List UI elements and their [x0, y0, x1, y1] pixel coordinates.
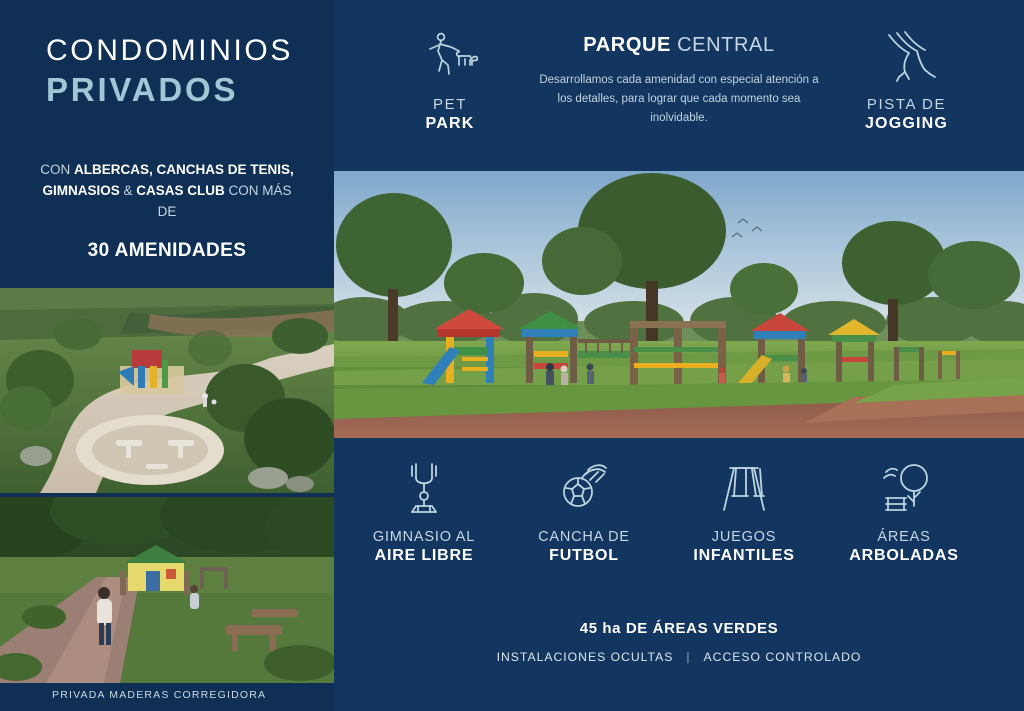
pet-park-label-bold: PARK [360, 115, 540, 133]
green-areas-stat: 45 ha DE ÁREAS VERDES [334, 620, 1024, 637]
top-icon-row: PET PARK PARQUE CENTRAL Desarrollamos ca… [334, 0, 1024, 170]
amenity-1-label-light: CANCHA DE [504, 529, 664, 545]
swings-icon [664, 457, 824, 521]
headline-line-2: PRIVADOS [46, 69, 304, 110]
outdoor-gym-icon [344, 457, 504, 521]
amenities-icon-row: GIMNASIO AL AIRE LIBRE CANCHA DE [334, 445, 1024, 595]
parque-central-title: PARQUE CENTRAL [534, 34, 824, 57]
right-column: PET PARK PARQUE CENTRAL Desarrollamos ca… [334, 0, 1024, 711]
amenity-2-label-bold: INFANTILES [664, 547, 824, 565]
stat-separator: | [673, 650, 703, 664]
subheadline-text: CON ALBERCAS, CANCHAS DE TENIS, GIMNASIO… [32, 160, 302, 223]
poster-root: CONDOMINIOS PRIVADOS CON ALBERCAS, CANCH… [0, 0, 1024, 711]
sub-bold2: CASAS CLUB [136, 183, 225, 198]
jogging-label-bold: JOGGING [814, 115, 999, 133]
sub-amp: & [120, 183, 137, 198]
soccer-icon [504, 457, 664, 521]
left-column: CONDOMINIOS PRIVADOS CON ALBERCAS, CANCH… [0, 0, 334, 711]
title-bold: PARQUE [583, 34, 671, 56]
amenity-green-areas: ÁREAS ARBOLADAS [824, 457, 984, 565]
photo-park-walkway [0, 497, 334, 683]
feature-pet-park: PET PARK [360, 26, 540, 133]
tree-bench-icon [824, 457, 984, 521]
amenity-3-label-light: ÁREAS [824, 529, 984, 545]
sub-prefix: CON [40, 162, 74, 177]
amenity-0-label-light: GIMNASIO AL [344, 529, 504, 545]
amenity-playground: JUEGOS INFANTILES [664, 457, 824, 565]
hero-playground-render [334, 171, 1024, 438]
jogging-label-light: PISTA DE [814, 96, 999, 113]
stats-details: INSTALACIONES OCULTAS|ACCESO CONTROLADO [334, 650, 1024, 664]
center-description: Desarrollamos cada amenidad con especial… [534, 71, 824, 128]
amenities-count: 30 AMENIDADES [32, 236, 302, 265]
footer-brand-text: PRIVADA MADERAS CORREGIDORA [52, 689, 266, 701]
title-light: CENTRAL [671, 34, 775, 56]
stat-detail-right: ACCESO CONTROLADO [704, 650, 862, 664]
amenity-2-label-light: JUEGOS [664, 529, 824, 545]
photo-park-aerial [0, 288, 334, 493]
amenity-3-label-bold: ARBOLADAS [824, 547, 984, 565]
amenity-soccer: CANCHA DE FUTBOL [504, 457, 664, 565]
stat-detail-left: INSTALACIONES OCULTAS [497, 650, 674, 664]
stats-block: 45 ha DE ÁREAS VERDES INSTALACIONES OCUL… [334, 620, 1024, 664]
running-legs-icon [814, 26, 999, 88]
amenity-1-label-bold: FUTBOL [504, 547, 664, 565]
amenity-outdoor-gym: GIMNASIO AL AIRE LIBRE [344, 457, 504, 565]
amenity-0-label-bold: AIRE LIBRE [344, 547, 504, 565]
feature-jogging: PISTA DE JOGGING [814, 26, 999, 133]
center-title-block: PARQUE CENTRAL Desarrollamos cada amenid… [534, 34, 824, 128]
subheadline-block: CON ALBERCAS, CANCHAS DE TENIS, GIMNASIO… [0, 160, 334, 265]
pet-park-label-light: PET [360, 96, 540, 113]
dog-walking-icon [360, 26, 540, 88]
headline-line-1: CONDOMINIOS [46, 34, 304, 69]
